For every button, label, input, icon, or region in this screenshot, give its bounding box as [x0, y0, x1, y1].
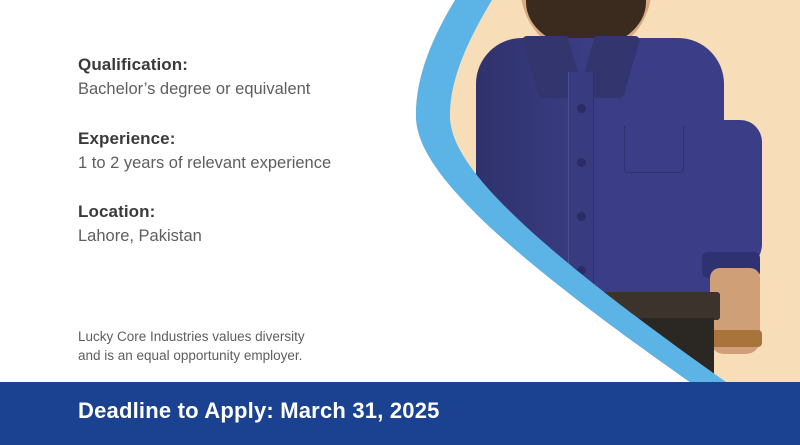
field-experience: Experience: 1 to 2 years of relevant exp… — [78, 128, 331, 175]
candidate-photo — [380, 0, 800, 382]
equal-opportunity-note: Lucky Core Industries values diversity a… — [78, 327, 408, 365]
field-location: Location: Lahore, Pakistan — [78, 201, 202, 248]
field-value-location: Lahore, Pakistan — [78, 225, 202, 248]
person-illustration — [380, 0, 800, 382]
deadline-banner: Deadline to Apply: March 31, 2025 — [0, 382, 800, 445]
field-value-experience: 1 to 2 years of relevant experience — [78, 152, 331, 175]
person-trousers — [486, 318, 714, 382]
note-line-2: and is an equal opportunity employer. — [78, 346, 408, 365]
note-line-1: Lucky Core Industries values diversity — [78, 327, 408, 346]
person-belt — [480, 292, 720, 320]
person-shirt-button — [577, 266, 586, 275]
field-label-location: Location: — [78, 201, 202, 223]
field-value-qualification: Bachelor’s degree or equivalent — [78, 78, 310, 101]
job-posting-poster: Qualification: Bachelor’s degree or equi… — [0, 0, 800, 445]
person-shirt-button — [577, 212, 586, 221]
field-label-experience: Experience: — [78, 128, 331, 150]
deadline-text: Deadline to Apply: March 31, 2025 — [78, 398, 440, 424]
person-belt-buckle — [522, 296, 542, 316]
field-label-qualification: Qualification: — [78, 54, 310, 76]
person-arm — [696, 120, 762, 270]
person-watch — [708, 330, 762, 347]
person-shirt-pocket — [624, 126, 684, 173]
field-qualification: Qualification: Bachelor’s degree or equi… — [78, 54, 310, 101]
person-shirt-button — [577, 104, 586, 113]
person-shirt-button — [577, 158, 586, 167]
